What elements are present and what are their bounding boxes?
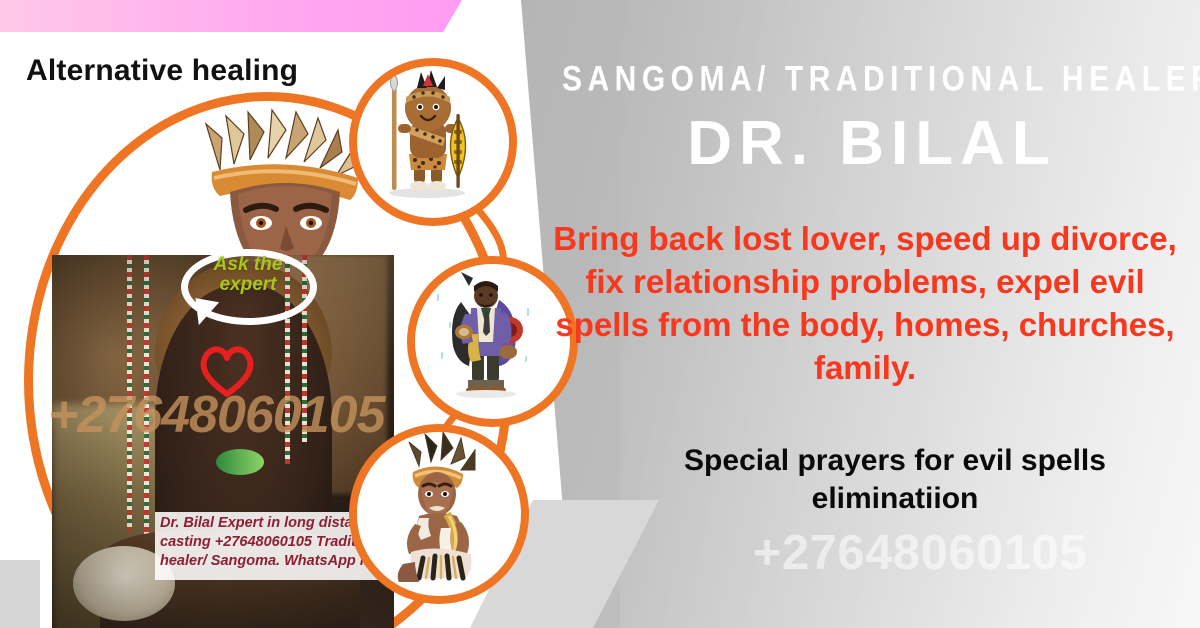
ghost-phone-number: +27648060105 xyxy=(640,525,1200,581)
bottom-left-grey-band xyxy=(0,560,40,628)
sangoma-crouching-illustration-icon xyxy=(357,432,507,582)
zulu-warrior-cartoon-icon xyxy=(357,66,497,206)
services-red-text: Bring back lost lover, speed up divorce,… xyxy=(545,218,1185,390)
poster-canvas: Alternative healing xyxy=(0,0,1200,628)
circle-zulu-warrior xyxy=(349,58,517,226)
brand-name: DR. BILAL xyxy=(562,108,1182,179)
traditional-healer-illustration-icon xyxy=(415,264,555,404)
page-title: Alternative healing xyxy=(26,54,298,88)
circle-sangoma-crouching xyxy=(349,424,529,604)
speech-bubble-label: Ask the expert xyxy=(200,255,296,295)
top-pink-strip xyxy=(0,0,462,32)
kicker-text: SANGOMA/ TRADITIONAL HEALER xyxy=(562,60,1182,100)
services-black-text: Special prayers for evil spells eliminat… xyxy=(610,442,1180,519)
